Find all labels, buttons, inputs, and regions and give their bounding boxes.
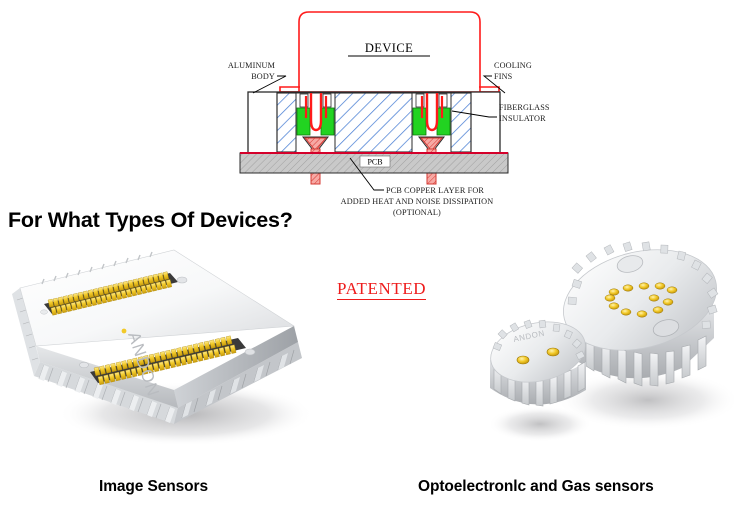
page-title: For What Types Of Devices?	[8, 208, 293, 233]
svg-text:COOLING: COOLING	[494, 61, 532, 70]
caption-image-sensors: Image Sensors	[99, 478, 208, 496]
insulator-block	[321, 108, 334, 135]
drop-shadow-small	[488, 406, 592, 442]
patented-stamp: PATENTED	[337, 280, 426, 300]
insulator-block	[437, 108, 450, 135]
svg-text:INSULATOR: INSULATOR	[499, 114, 546, 123]
insulator-block	[297, 108, 310, 135]
svg-text:ADDED HEAT AND NOISE DISSIPATI: ADDED HEAT AND NOISE DISSIPATION	[341, 197, 494, 206]
svg-text:FINS: FINS	[494, 72, 513, 81]
device-label: DEVICE	[365, 41, 413, 55]
aluminum-body	[248, 92, 500, 153]
brand-dot	[122, 329, 127, 334]
heatsink-large	[553, 235, 728, 386]
product-image-left: ANDON	[6, 238, 336, 453]
callout-aluminum-body: ALUMINUM BODY	[228, 61, 286, 93]
svg-text:PCB COPPER LAYER FOR: PCB COPPER LAYER FOR	[386, 186, 484, 195]
pcb-label: PCB	[367, 158, 382, 167]
insulator-block	[413, 108, 426, 135]
svg-text:(OPTIONAL): (OPTIONAL)	[393, 208, 441, 217]
svg-text:BODY: BODY	[251, 72, 275, 81]
product-image-right: ANDON	[462, 228, 734, 453]
svg-text:ALUMINUM: ALUMINUM	[228, 61, 276, 70]
cross-section-diagram: DEVICE	[0, 0, 738, 228]
svg-text:FIBERGLASS: FIBERGLASS	[499, 103, 550, 112]
pcb-board: PCB	[240, 153, 508, 173]
callout-cooling-fins: COOLING FINS	[484, 61, 532, 93]
caption-optoelectronic-gas-sensors: Optoelectronlc and Gas sensors	[418, 478, 654, 496]
